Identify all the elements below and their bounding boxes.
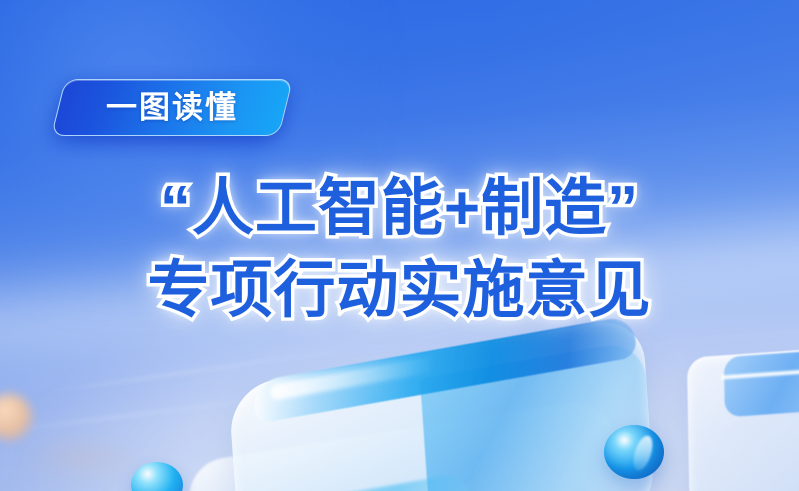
read-in-one-picture-badge[interactable]: 一图读懂 (58, 79, 286, 136)
badge-plate: 一图读懂 (51, 79, 293, 136)
pale-orb-glow (22, 438, 142, 478)
badge-label: 一图读懂 (106, 92, 238, 123)
glass-box-lid (724, 348, 799, 418)
infographic-poster: 一图读懂 “人工智能+制造” 专项行动实施意见 (0, 0, 799, 491)
glass-box-shape (687, 346, 799, 491)
glass-sphere-large-icon (604, 425, 664, 479)
